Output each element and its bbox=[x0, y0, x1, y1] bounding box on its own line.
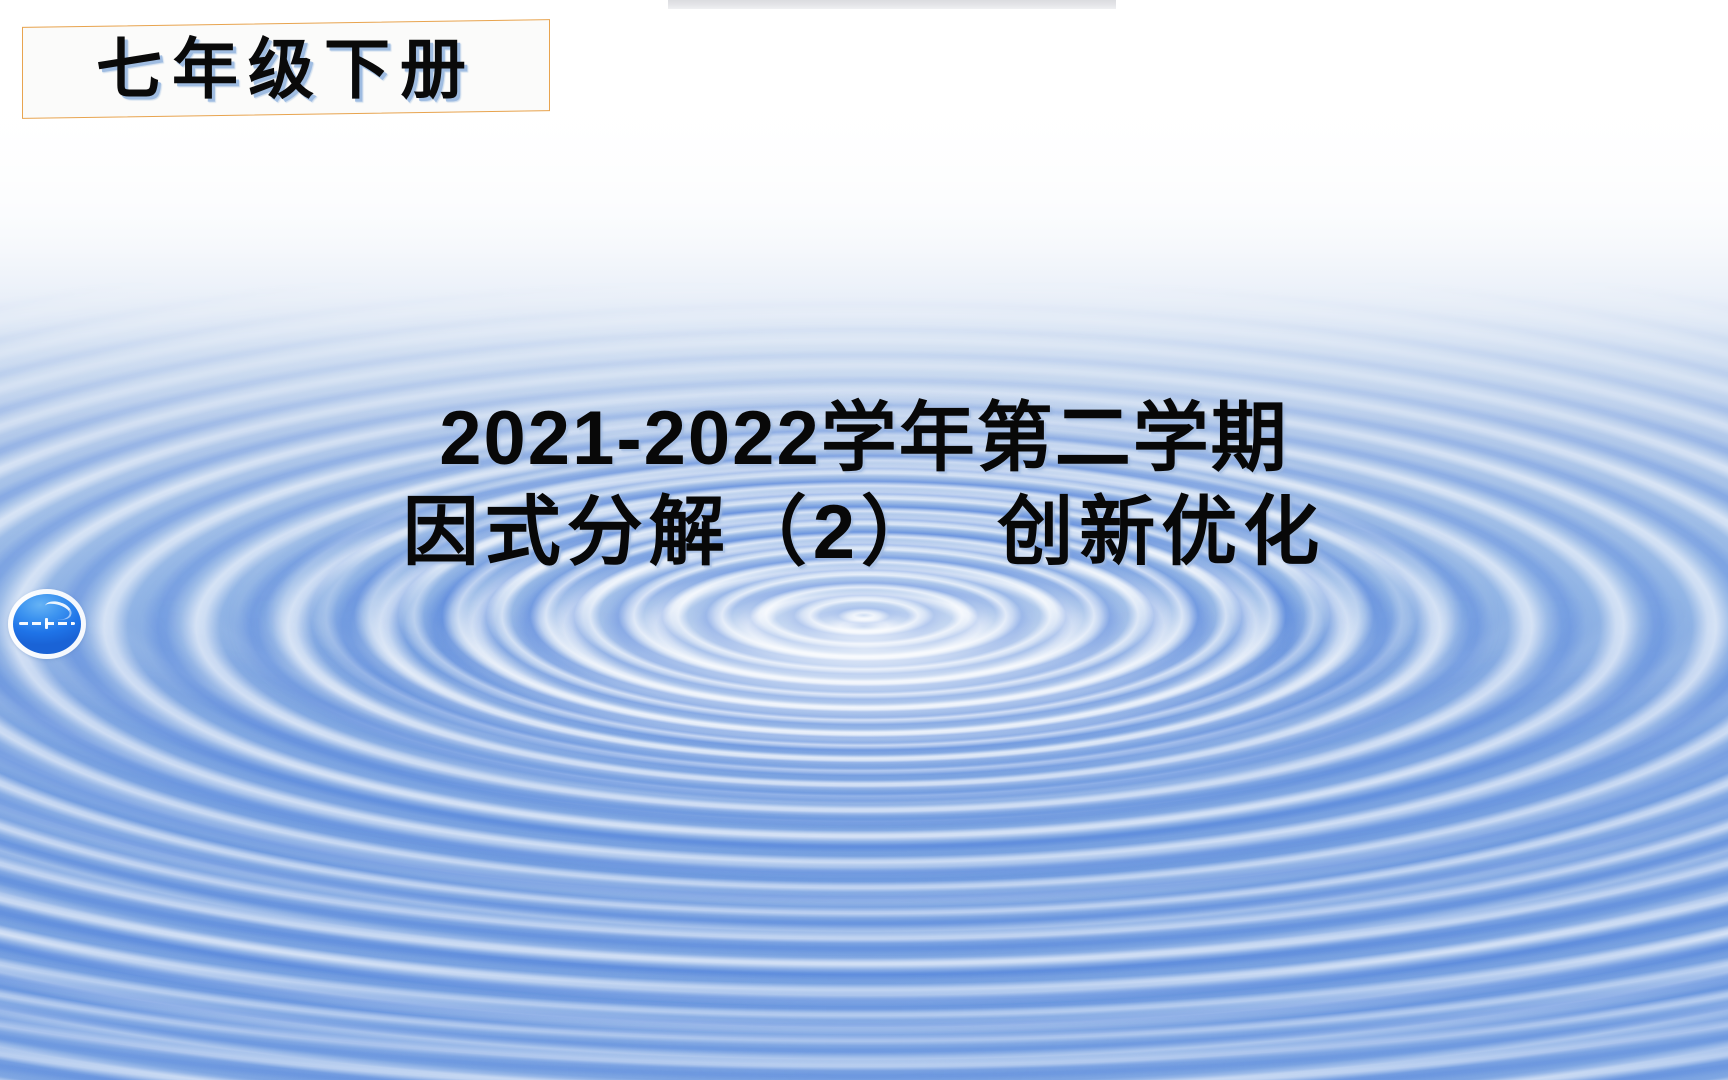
presentation-slide: 七年级下册 2021-2022学年第二学期 因式分解（2） 创新优化 bbox=[0, 0, 1728, 1080]
water-drop-center-dot bbox=[45, 618, 48, 629]
grade-badge: 七年级下册 bbox=[22, 19, 550, 119]
slide-title-block: 2021-2022学年第二学期 因式分解（2） 创新优化 bbox=[0, 394, 1728, 577]
title-line-topic: 因式分解（2） 创新优化 bbox=[0, 488, 1728, 578]
grade-badge-label: 七年级下册 bbox=[96, 36, 476, 102]
top-grey-bar bbox=[668, 0, 1116, 9]
title-line-academic-year: 2021-2022学年第二学期 bbox=[0, 394, 1728, 484]
water-drop-sphere-icon bbox=[8, 589, 86, 659]
